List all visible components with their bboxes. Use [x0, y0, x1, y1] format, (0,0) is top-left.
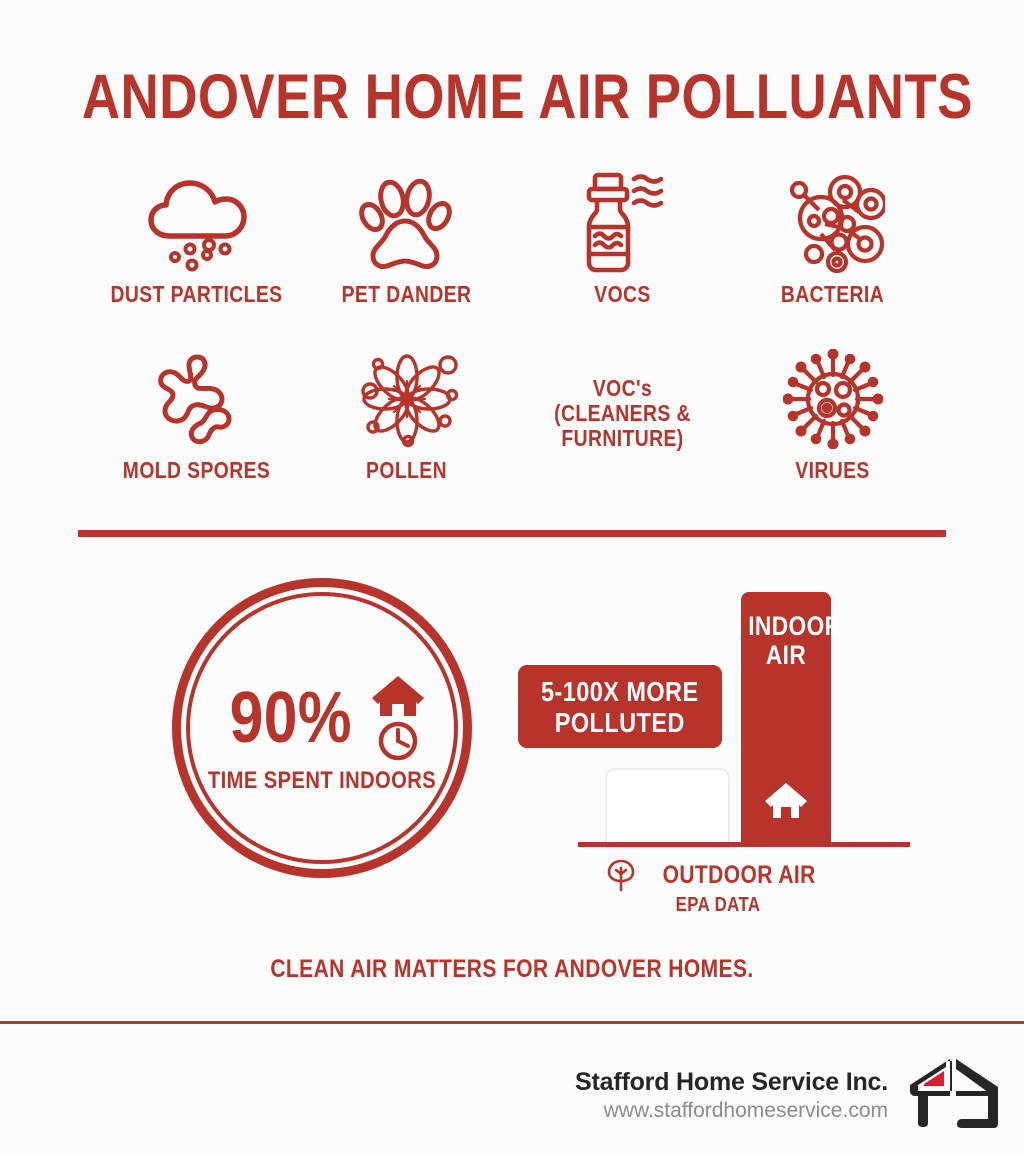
footer-rule — [0, 1021, 1024, 1024]
stat-value: 90% — [230, 682, 352, 754]
pollutant-cell-pollen: POLLEN — [296, 344, 517, 483]
pollutant-label: VOC's (CLEANERS & FURNITURE) — [530, 376, 716, 451]
pollutant-cell-virues: VIRUES — [722, 344, 943, 483]
stafford-house-logo — [906, 1057, 1002, 1134]
pollutant-label: PET DANDER — [314, 282, 500, 307]
pollutant-label: DUST PARTICLES — [104, 282, 290, 307]
company-name: Stafford Home Service Inc. — [575, 1068, 888, 1097]
pollutant-cell-vocs-cleaners: VOC's (CLEANERS & FURNITURE) — [512, 344, 733, 451]
spray-bottle-icon — [512, 168, 733, 278]
bar-indoor-label: INDOOR AIR — [748, 612, 824, 670]
stat-caption: TIME SPENT INDOORS — [196, 768, 448, 794]
tree-icon — [606, 858, 636, 892]
tagline: CLEAN AIR MATTERS FOR ANDOVER HOMES. — [82, 955, 942, 983]
outdoor-legend-row: OUTDOOR AIR — [548, 858, 888, 892]
house-icon — [741, 782, 831, 820]
bar-outdoor-air — [605, 768, 730, 848]
pollutant-grid: DUST PARTICLES PET DANDER — [70, 168, 954, 508]
mold-spores-icon — [86, 344, 307, 454]
pollutant-cell-mold-spores: MOLD SPORES — [86, 344, 307, 483]
section-divider — [78, 530, 946, 537]
polluted-badge: 5-100X MORE POLLUTED — [518, 665, 722, 748]
house-clock-icon — [370, 674, 426, 762]
polluted-badge-text: 5-100X MORE POLLUTED — [541, 676, 699, 738]
outdoor-air-legend: OUTDOOR AIR EPA DATA — [548, 858, 888, 916]
pollutant-cell-bacteria: BACTERIA — [722, 168, 943, 307]
pollutant-label: BACTERIA — [740, 282, 926, 307]
page-title: ANDOVER HOME AIR POLLUANTS — [82, 62, 942, 132]
chart-baseline — [578, 842, 910, 847]
time-spent-indoors-stat: 90% TIME SPENT INDOORS — [172, 578, 472, 878]
footer: Stafford Home Service Inc. www.staffordh… — [0, 1055, 1024, 1135]
stat-value-row: 90% — [172, 674, 472, 762]
pollen-flower-icon — [296, 344, 517, 454]
company-website[interactable]: www.staffordhomeservice.com — [575, 1099, 888, 1123]
pollutant-label: VOCS — [530, 282, 716, 307]
virus-icon — [722, 344, 943, 454]
pollutant-label: VIRUES — [740, 458, 926, 483]
dust-cloud-icon — [86, 168, 307, 278]
pollutant-cell-dust-particles: DUST PARTICLES — [86, 168, 307, 307]
pollutant-cell-pet-dander: PET DANDER — [296, 168, 517, 307]
bar-indoor-air: INDOOR AIR — [741, 592, 831, 844]
paw-print-icon — [296, 168, 517, 278]
pollutant-label: POLLEN — [314, 458, 500, 483]
pollutant-cell-vocs: VOCS — [512, 168, 733, 307]
chart-source-label: EPA DATA — [575, 894, 861, 916]
footer-text: Stafford Home Service Inc. www.staffordh… — [575, 1068, 888, 1123]
indoor-outdoor-bar-chart: INDOOR AIR 5-100X MORE POLLUTED OUTDOOR … — [500, 578, 920, 928]
outdoor-legend-label: OUTDOOR AIR — [662, 862, 815, 889]
pollutant-label: MOLD SPORES — [104, 458, 290, 483]
bacteria-cluster-icon — [722, 168, 943, 278]
circle-content: 90% TIME SPENT INDOORS — [172, 674, 472, 794]
